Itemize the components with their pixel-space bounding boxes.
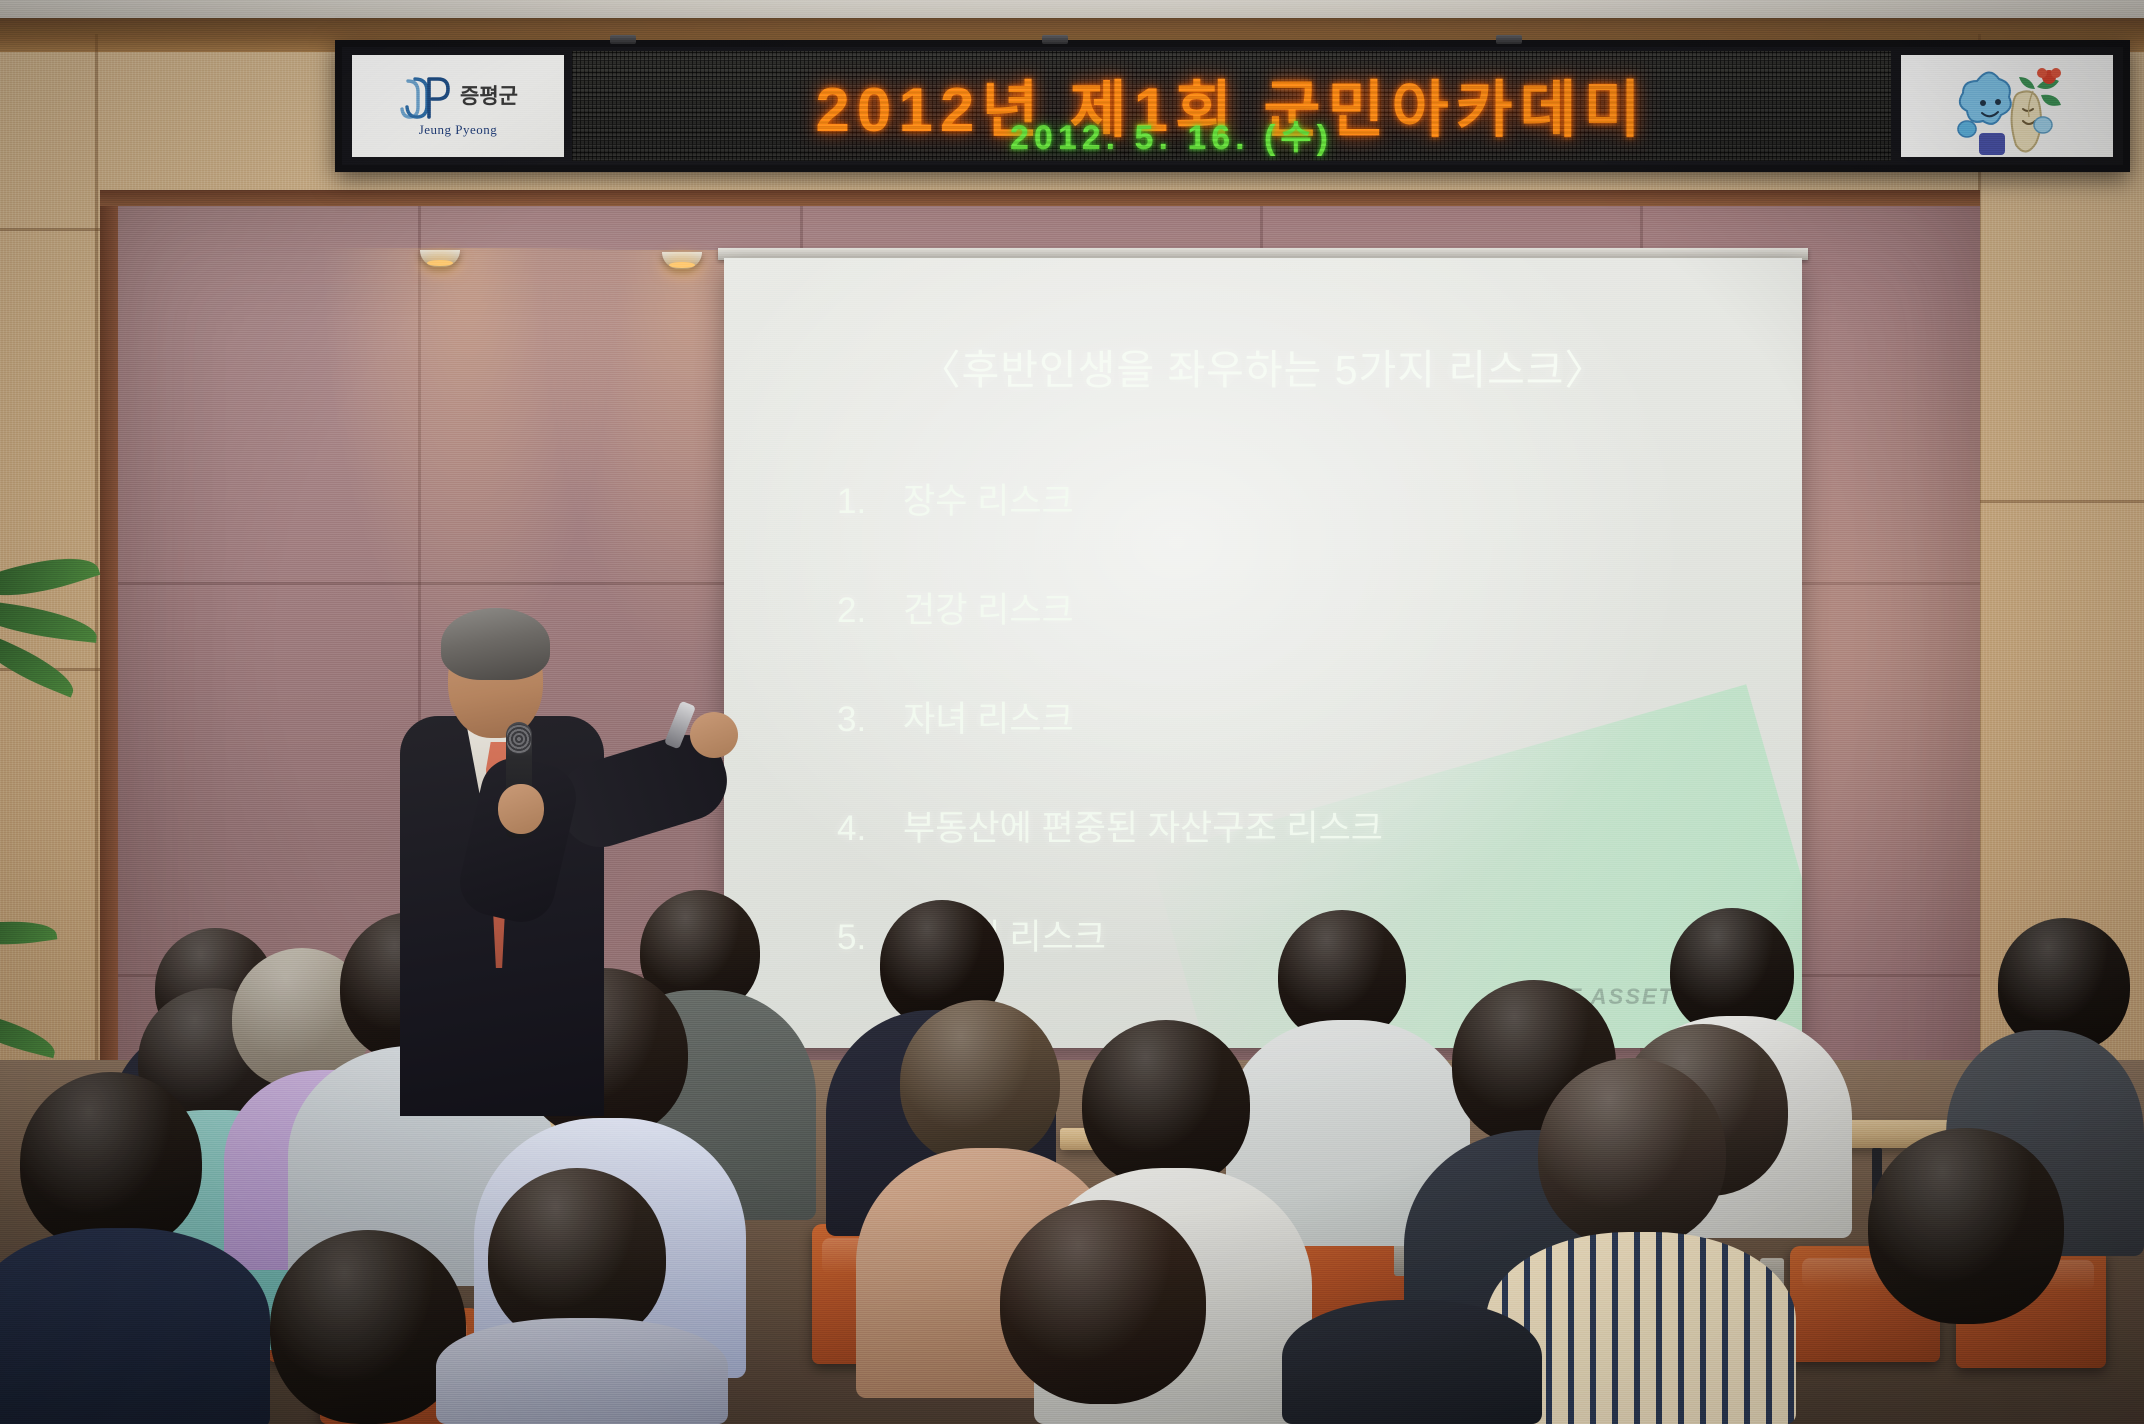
slide-item: 3. 자녀 리스크 bbox=[837, 691, 1782, 742]
slide-item-number: 1. bbox=[837, 482, 877, 522]
jp-logo-icon bbox=[398, 75, 454, 119]
slide-item-number: 3. bbox=[837, 700, 877, 740]
slide-item-text: 장수 리스크 bbox=[903, 473, 1074, 524]
speaker-right-hand bbox=[690, 712, 738, 758]
slide-item: 4. 부동산에 편중된 자산구조 리스크 bbox=[837, 800, 1782, 851]
logo-korean-name: 증평군 bbox=[460, 86, 518, 107]
audience-torso bbox=[0, 1228, 270, 1424]
wall-seam bbox=[95, 34, 98, 1134]
audience-head bbox=[1000, 1200, 1206, 1404]
led-banner: 증평군 Jeung Pyeong 2012년 제1회 군민아카데미 2012. … bbox=[335, 40, 2130, 172]
slide-item-number: 5. bbox=[837, 918, 877, 958]
logo-english-name: Jeung Pyeong bbox=[419, 122, 498, 138]
audience-head bbox=[1538, 1058, 1726, 1248]
slide-title: 〈후반인생을 좌우하는 5가지 리스크〉 bbox=[724, 336, 1802, 396]
county-mascot-panel bbox=[1901, 55, 2113, 157]
slide-item-text: 부동산에 편중된 자산구조 리스크 bbox=[903, 800, 1383, 851]
audience-torso bbox=[436, 1318, 728, 1424]
audience-torso bbox=[1282, 1300, 1542, 1424]
projection-screen: 〈후반인생을 좌우하는 5가지 리스크〉 1. 장수 리스크 2. 건강 리스크… bbox=[724, 258, 1802, 1048]
banner-mount-bolt bbox=[610, 35, 636, 44]
county-logo-panel: 증평군 Jeung Pyeong bbox=[352, 55, 564, 157]
audience-head bbox=[900, 1000, 1060, 1164]
slide-item: 1. 장수 리스크 bbox=[837, 473, 1782, 524]
banner-mount-bolt bbox=[1042, 35, 1068, 44]
lecture-hall-photo: 〈후반인생을 좌우하는 5가지 리스크〉 1. 장수 리스크 2. 건강 리스크… bbox=[0, 0, 2144, 1424]
wall-seam bbox=[1978, 500, 2144, 503]
wall-seam bbox=[0, 228, 110, 231]
slide-bullet-list: 1. 장수 리스크 2. 건강 리스크 3. 자녀 리스크 4. 부동산에 편중… bbox=[837, 473, 1782, 960]
banner-mount-bolt bbox=[1496, 35, 1522, 44]
mascot-icon bbox=[1901, 55, 2113, 157]
slide-item-number: 4. bbox=[837, 809, 877, 849]
panel-top-reveal bbox=[100, 190, 1980, 206]
slide-item-number: 2. bbox=[837, 591, 877, 631]
slide-item-text: 자녀 리스크 bbox=[903, 691, 1074, 742]
audience-head bbox=[1082, 1020, 1250, 1188]
led-display: 2012년 제1회 군민아카데미 2012. 5. 16. (수) bbox=[572, 51, 1891, 161]
speaker-hair bbox=[441, 608, 550, 680]
led-date: 2012. 5. 16. (수) bbox=[572, 110, 1891, 159]
speaker-left-hand bbox=[498, 784, 544, 834]
slide-item-text: 건강 리스크 bbox=[903, 582, 1074, 633]
audience-head bbox=[1868, 1128, 2064, 1324]
slide-item: 2. 건강 리스크 bbox=[837, 582, 1782, 633]
audience-head bbox=[20, 1072, 202, 1252]
